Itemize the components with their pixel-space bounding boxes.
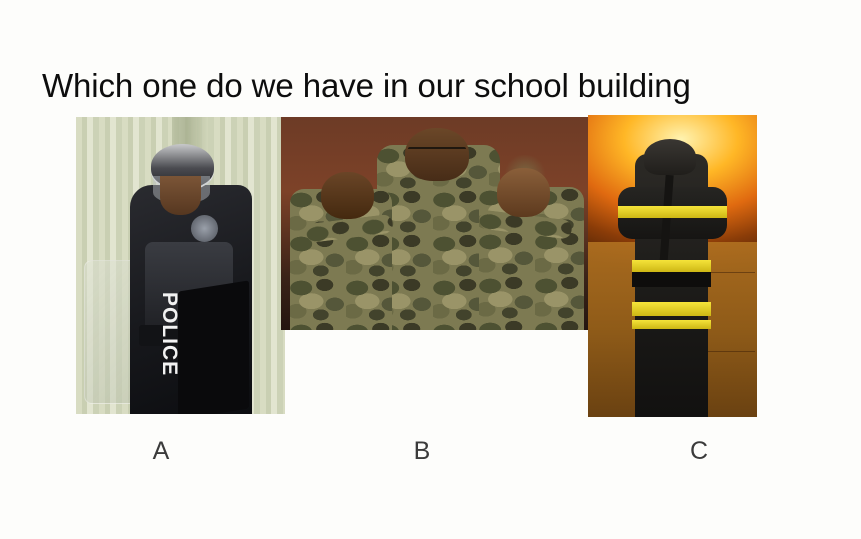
reflective-stripe-hem-lower xyxy=(632,320,711,329)
soldier-right-head xyxy=(497,168,550,217)
police-badge-icon xyxy=(191,215,218,242)
option-b-label: B xyxy=(392,437,452,466)
option-a-image[interactable]: POLICE xyxy=(76,117,285,414)
shield-police-text: POLICE xyxy=(157,292,181,371)
soldier-left-head xyxy=(321,172,374,219)
slide-canvas: Which one do we have in our school build… xyxy=(0,0,861,539)
eyeglasses-icon xyxy=(408,147,467,158)
officer-face xyxy=(160,176,202,215)
option-b-image[interactable] xyxy=(281,117,590,330)
page-title: Which one do we have in our school build… xyxy=(42,66,691,106)
firefighter-helmet xyxy=(644,139,696,175)
firefighter-belt xyxy=(632,272,711,287)
option-a-label: A xyxy=(131,437,191,466)
option-c-image[interactable] xyxy=(588,115,757,417)
option-c-label: C xyxy=(669,437,729,466)
reflective-stripe-hem xyxy=(632,302,711,316)
reflective-stripe-waist xyxy=(632,260,711,272)
rounded-corner-artifact xyxy=(0,0,29,29)
shield-black-plate xyxy=(178,281,249,414)
reflective-stripe-arm xyxy=(618,206,726,219)
